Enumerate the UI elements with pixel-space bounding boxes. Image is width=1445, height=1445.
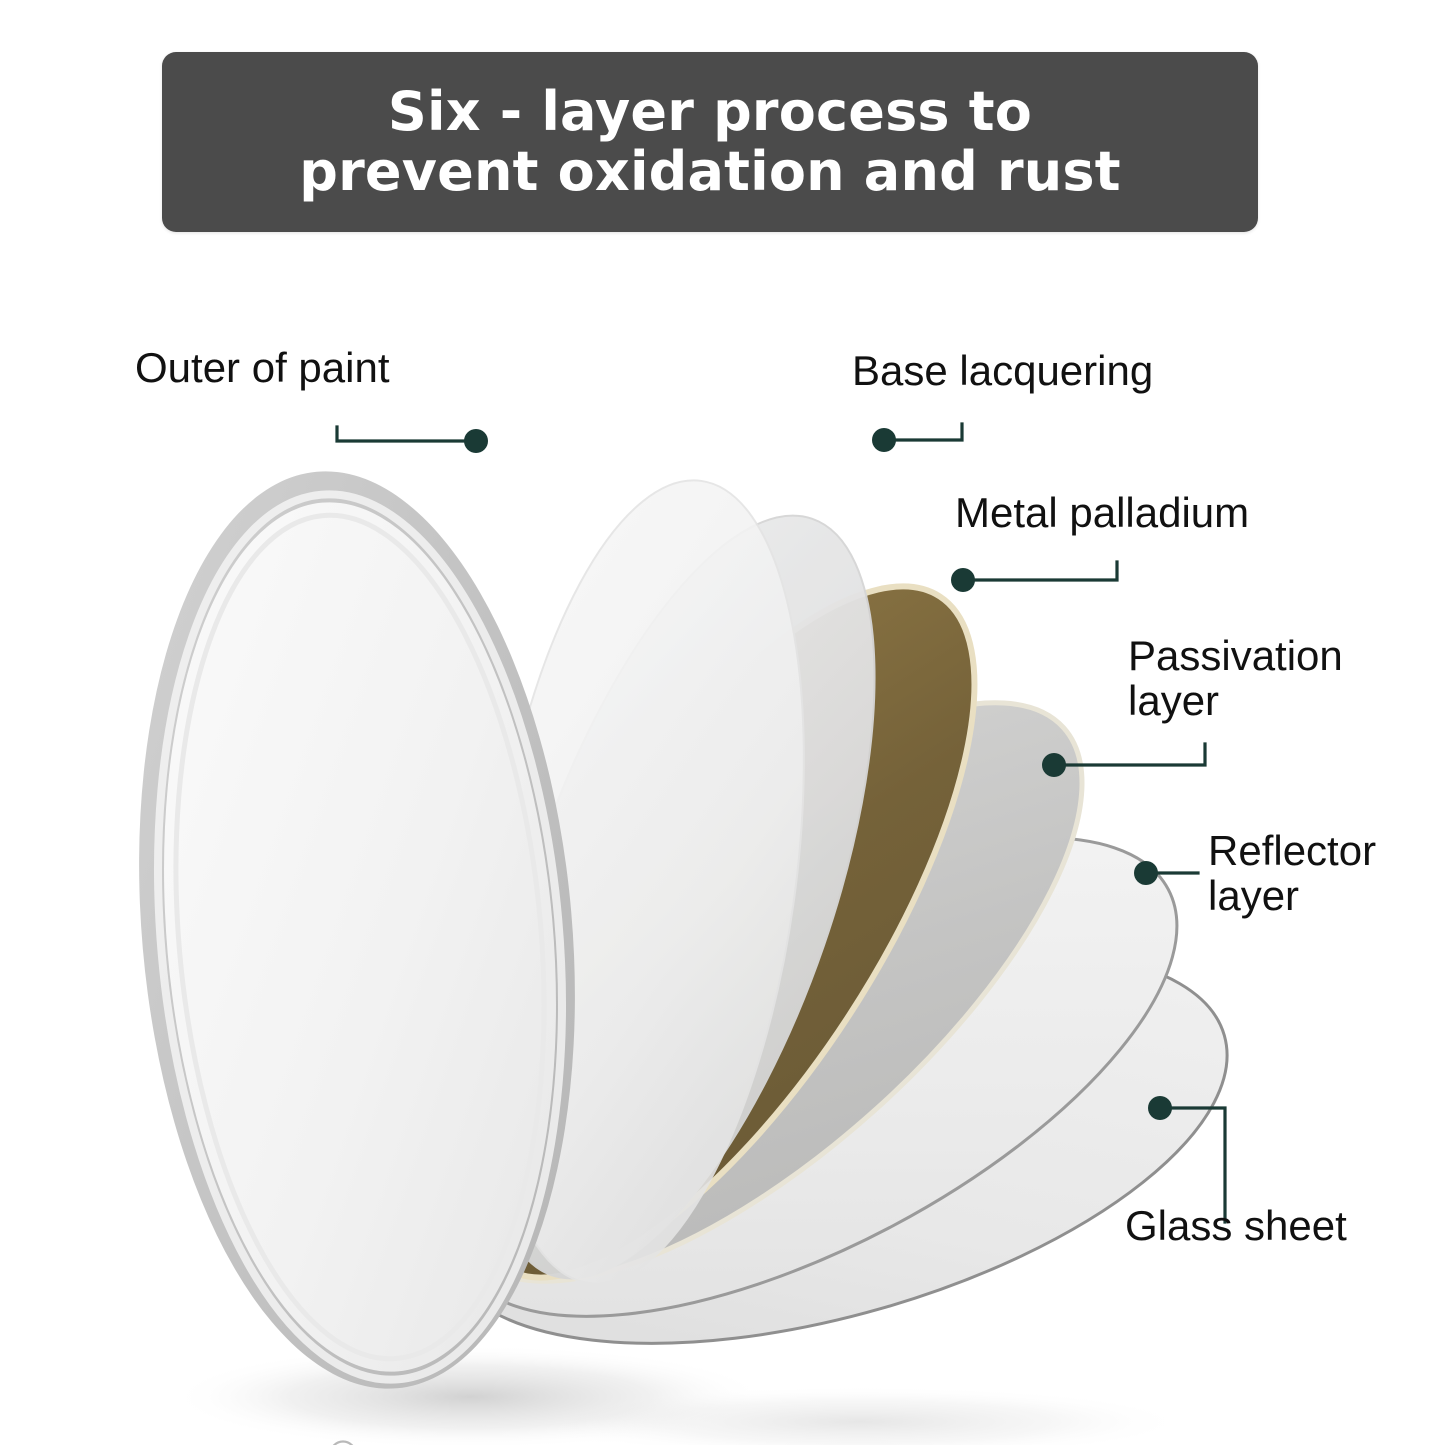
dot-passivation-layer [1042,753,1066,777]
dot-glass-sheet [1148,1096,1172,1120]
leader-base-lacquering [894,424,962,440]
dot-reflector-layer [1134,861,1158,885]
banner-title: Six - layer process to prevent oxidation… [299,82,1121,203]
dot-base-lacquering [872,428,896,452]
leader-passivation-layer [1064,744,1205,765]
label-glass-sheet: Glass sheet [1125,1203,1347,1248]
leader-metal-palladium [973,562,1117,580]
label-reflector-layer: Reflector layer [1208,828,1376,919]
title-banner: Six - layer process to prevent oxidation… [162,52,1258,232]
leader-outer-of-paint [337,427,466,441]
label-passivation-layer: Passivation layer [1128,633,1343,724]
label-metal-palladium: Metal palladium [955,490,1249,535]
dot-metal-palladium [951,568,975,592]
dot-outer-of-paint [464,429,488,453]
label-outer-of-paint: Outer of paint [135,345,389,390]
page-root: Six - layer process to prevent oxidation… [0,0,1445,1445]
label-base-lacquering: Base lacquering [852,348,1153,393]
